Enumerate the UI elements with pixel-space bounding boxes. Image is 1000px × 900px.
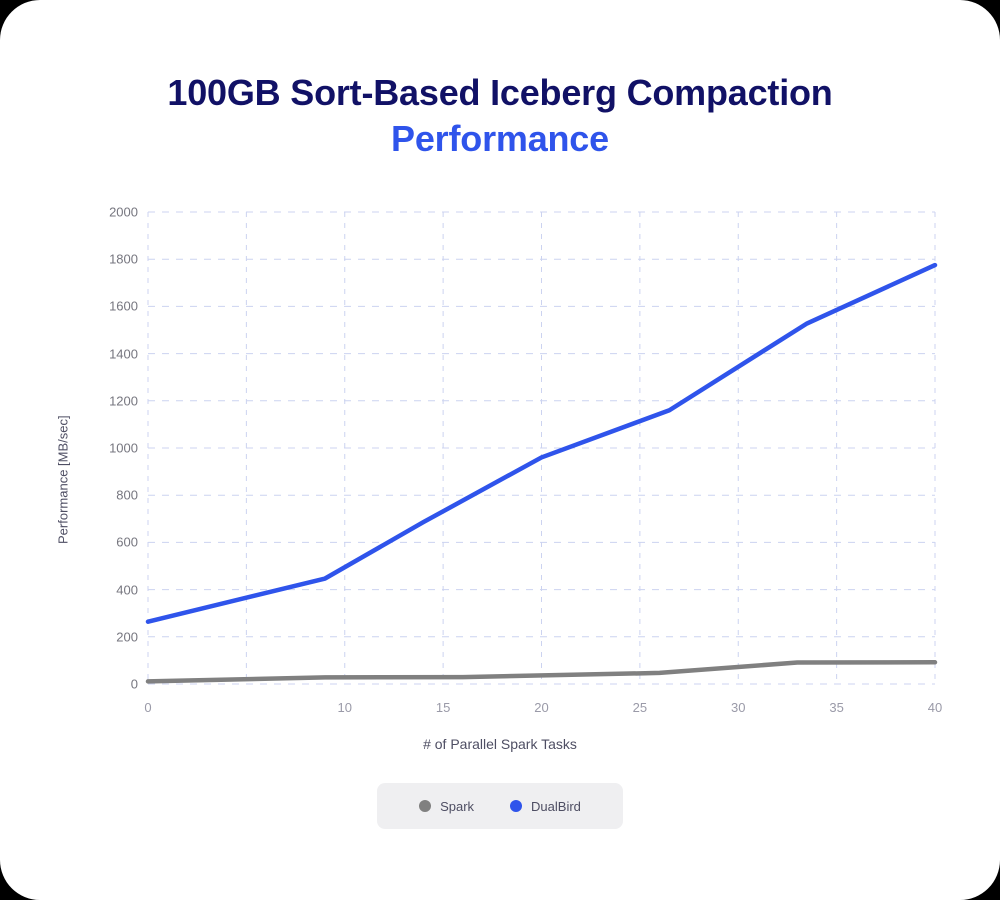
line-chart: 0200400600800100012001400160018002000 01…: [0, 0, 1000, 900]
y-tick-label: 2000: [80, 205, 138, 220]
x-tick-label: 30: [731, 700, 745, 715]
y-tick-label: 1200: [80, 393, 138, 408]
legend-swatch-dualbird: [510, 800, 522, 812]
plot-area: [148, 212, 935, 684]
legend-item-dualbird[interactable]: DualBird: [510, 799, 581, 814]
x-axis-title: # of Parallel Spark Tasks: [0, 736, 1000, 752]
y-tick-label: 400: [80, 582, 138, 597]
x-tick-label: 25: [633, 700, 647, 715]
y-axis-tick-labels: 0200400600800100012001400160018002000: [80, 212, 138, 684]
legend-label-dualbird: DualBird: [531, 799, 581, 814]
legend-swatch-spark: [419, 800, 431, 812]
y-tick-label: 600: [80, 535, 138, 550]
y-tick-label: 1600: [80, 299, 138, 314]
gridlines: [148, 212, 935, 684]
x-tick-label: 10: [338, 700, 352, 715]
chart-legend: Spark DualBird: [377, 783, 623, 829]
y-tick-label: 1000: [80, 441, 138, 456]
x-tick-label: 40: [928, 700, 942, 715]
y-tick-label: 0: [80, 677, 138, 692]
x-tick-label: 0: [144, 700, 151, 715]
x-tick-label: 15: [436, 700, 450, 715]
y-tick-label: 200: [80, 629, 138, 644]
chart-card: 100GB Sort-Based Iceberg Compaction Perf…: [0, 0, 1000, 900]
legend-item-spark[interactable]: Spark: [419, 799, 474, 814]
y-tick-label: 800: [80, 488, 138, 503]
y-tick-label: 1400: [80, 346, 138, 361]
legend-label-spark: Spark: [440, 799, 474, 814]
y-axis-title: Performance [MB/sec]: [48, 390, 78, 570]
y-tick-label: 1800: [80, 252, 138, 267]
x-tick-label: 20: [534, 700, 548, 715]
data-series: [148, 265, 935, 681]
x-axis-tick-labels: 010152025303540: [148, 700, 935, 720]
x-tick-label: 35: [829, 700, 843, 715]
plot-svg: [148, 212, 935, 684]
